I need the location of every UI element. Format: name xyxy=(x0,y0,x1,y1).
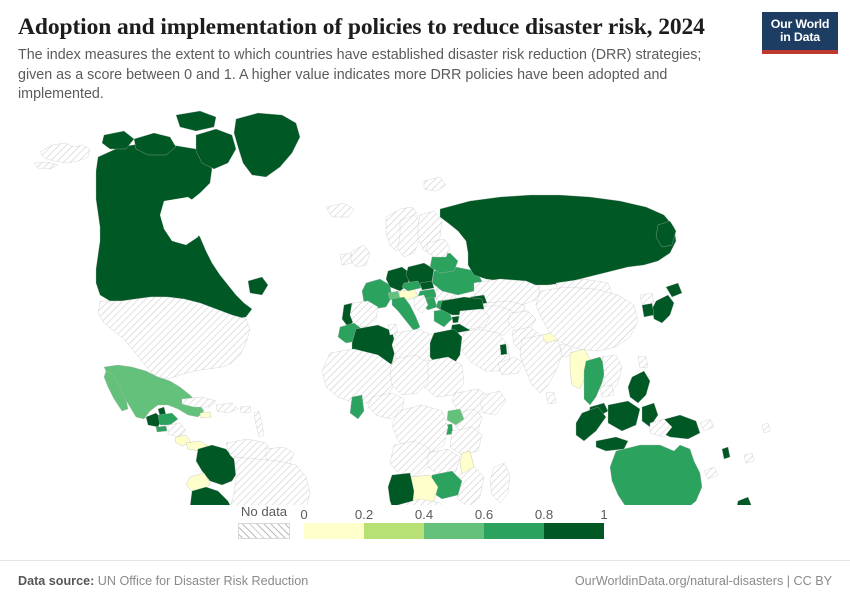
country-jamaica[interactable] xyxy=(200,412,211,418)
country-north-korea[interactable] xyxy=(640,293,654,305)
country-canada-baffin-island[interactable] xyxy=(196,129,236,169)
data-source: Data source: UN Office for Disaster Risk… xyxy=(18,574,308,588)
legend-no-data-swatch[interactable] xyxy=(238,523,290,539)
legend-bin-0.2-0.4[interactable] xyxy=(364,523,424,539)
country-indonesia-borneo[interactable] xyxy=(608,401,640,431)
country-nicaragua[interactable] xyxy=(168,423,186,437)
legend-no-data-group[interactable]: No data xyxy=(238,504,290,539)
country-thailand[interactable] xyxy=(584,357,606,405)
country-australia[interactable] xyxy=(610,445,702,505)
owid-logo[interactable]: Our World in Data xyxy=(762,12,838,54)
data-source-text: UN Office for Disaster Risk Reduction xyxy=(98,574,308,588)
chart-subtitle: The index measures the extent to which c… xyxy=(18,46,718,105)
country-el-salvador[interactable] xyxy=(156,426,167,432)
legend-color-bar[interactable] xyxy=(304,523,604,539)
map-legend: No data 0 0.2 0.4 0.6 0.8 1 xyxy=(0,498,850,560)
country-united-kingdom[interactable] xyxy=(350,245,370,267)
country-indonesia-sumatra[interactable] xyxy=(576,407,606,441)
owid-logo-line1: Our World xyxy=(762,18,838,31)
legend-tick-0.8: 0.8 xyxy=(535,507,553,522)
legend-bin-0.8-1[interactable] xyxy=(544,523,604,539)
country-indonesia-java[interactable] xyxy=(596,437,628,451)
legend-tick-0: 0 xyxy=(300,507,307,522)
legend-bin-0.6-0.8[interactable] xyxy=(484,523,544,539)
country-japan[interactable] xyxy=(652,295,674,323)
country-qatar[interactable] xyxy=(500,344,507,355)
country-solomon-islands[interactable] xyxy=(700,419,714,431)
legend-bin-0-0.2[interactable] xyxy=(304,523,364,539)
map-area[interactable] xyxy=(0,105,850,498)
country-sri-lanka[interactable] xyxy=(546,392,556,404)
country-tanzania[interactable] xyxy=(450,427,482,455)
country-fiji[interactable] xyxy=(744,453,754,463)
country-puerto-rico[interactable] xyxy=(240,406,251,413)
country-pacific-islands-small[interactable] xyxy=(762,423,770,433)
country-svalbard[interactable] xyxy=(424,177,446,191)
country-canada-ellesmere[interactable] xyxy=(176,111,216,131)
country-russia[interactable] xyxy=(440,195,676,285)
legend-tick-1: 1 xyxy=(600,507,607,522)
country-cambodia[interactable] xyxy=(600,385,614,397)
country-hispaniola[interactable] xyxy=(216,403,238,413)
page-title: Adoption and implementation of policies … xyxy=(18,14,753,41)
country-zambia[interactable] xyxy=(428,449,460,475)
country-south-korea[interactable] xyxy=(642,303,654,317)
legend-no-data-label: No data xyxy=(238,504,290,519)
country-vanuatu[interactable] xyxy=(722,447,730,459)
country-afghanistan[interactable] xyxy=(508,311,536,331)
legend-bin-0.4-0.6[interactable] xyxy=(424,523,484,539)
country-iceland[interactable] xyxy=(326,203,354,217)
legend-tick-0.2: 0.2 xyxy=(355,507,373,522)
chart-footer: Data source: UN Office for Disaster Risk… xyxy=(0,560,850,600)
country-aleutians[interactable] xyxy=(34,162,58,169)
data-source-label: Data source: xyxy=(18,574,94,588)
owid-logo-line2: in Data xyxy=(762,31,838,44)
country-philippines[interactable] xyxy=(628,371,650,403)
country-taiwan[interactable] xyxy=(638,356,648,368)
legend-tick-0.6: 0.6 xyxy=(475,507,493,522)
country-japan-hokkaido[interactable] xyxy=(666,283,682,297)
country-angola[interactable] xyxy=(390,441,430,477)
world-choropleth-map[interactable] xyxy=(0,105,850,505)
chart-container: Adoption and implementation of policies … xyxy=(0,0,850,600)
attribution-link[interactable]: OurWorldinData.org/natural-disasters | C… xyxy=(575,574,832,588)
country-canada-newfoundland[interactable] xyxy=(248,277,268,295)
legend-scale-group[interactable]: 0 0.2 0.4 0.6 0.8 1 xyxy=(304,505,604,539)
country-united-states-alaska[interactable] xyxy=(40,143,90,163)
country-chad-niger[interactable] xyxy=(390,355,428,395)
country-greenland[interactable] xyxy=(234,113,300,177)
country-ghana[interactable] xyxy=(350,395,364,419)
country-ireland[interactable] xyxy=(340,253,352,265)
legend-tick-0.4: 0.4 xyxy=(415,507,433,522)
country-new-caledonia[interactable] xyxy=(704,467,718,479)
legend-tick-labels: 0 0.2 0.4 0.6 0.8 1 xyxy=(304,505,604,523)
chart-header: Adoption and implementation of policies … xyxy=(0,0,850,105)
country-lesser-antilles[interactable] xyxy=(254,411,264,437)
country-india[interactable] xyxy=(520,335,562,393)
country-honduras[interactable] xyxy=(158,413,178,425)
